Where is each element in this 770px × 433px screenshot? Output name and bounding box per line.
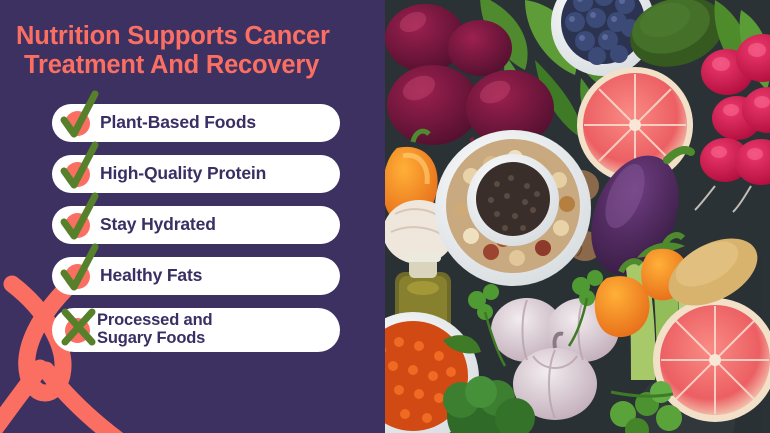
check-glyph	[58, 245, 100, 293]
cross-mark-icon	[61, 313, 95, 347]
headline-line-2: Treatment And Recovery	[16, 51, 376, 80]
left-content-panel: Nutrition Supports Cancer Treatment And …	[0, 0, 385, 433]
check-mark-icon	[61, 157, 95, 191]
check-glyph	[58, 143, 100, 191]
list-item-label: Processed and Sugary Foods	[97, 312, 212, 348]
check-mark-icon	[61, 106, 95, 140]
nutrition-infographic-poster: Nutrition Supports Cancer Treatment And …	[0, 0, 770, 433]
check-mark-icon	[61, 208, 95, 242]
page-title: Nutrition Supports Cancer Treatment And …	[16, 22, 376, 79]
food-photo-illustration	[385, 0, 770, 433]
list-item[interactable]: High-Quality Protein	[52, 155, 340, 193]
list-item-label-line-1: Processed and	[97, 312, 212, 330]
nutrition-checklist: Plant-Based Foods High-Quality Protein	[0, 104, 385, 352]
list-item-label: Stay Hydrated	[100, 216, 216, 234]
list-item[interactable]: Healthy Fats	[52, 257, 340, 295]
list-item[interactable]: Stay Hydrated	[52, 206, 340, 244]
list-item-label-line-2: Sugary Foods	[97, 330, 212, 348]
list-item-label: Healthy Fats	[100, 267, 202, 285]
list-item-label: Plant-Based Foods	[100, 114, 256, 132]
legumes-bowl	[435, 130, 591, 286]
check-glyph	[58, 92, 100, 140]
list-item[interactable]: Plant-Based Foods	[52, 104, 340, 142]
list-item-label: High-Quality Protein	[100, 165, 266, 183]
check-glyph	[58, 194, 100, 242]
list-item[interactable]: Processed and Sugary Foods	[52, 308, 340, 352]
headline-line-1: Nutrition Supports Cancer	[16, 22, 376, 51]
cross-glyph	[58, 305, 100, 349]
healthy-food-photo	[385, 0, 770, 433]
check-mark-icon	[61, 259, 95, 293]
